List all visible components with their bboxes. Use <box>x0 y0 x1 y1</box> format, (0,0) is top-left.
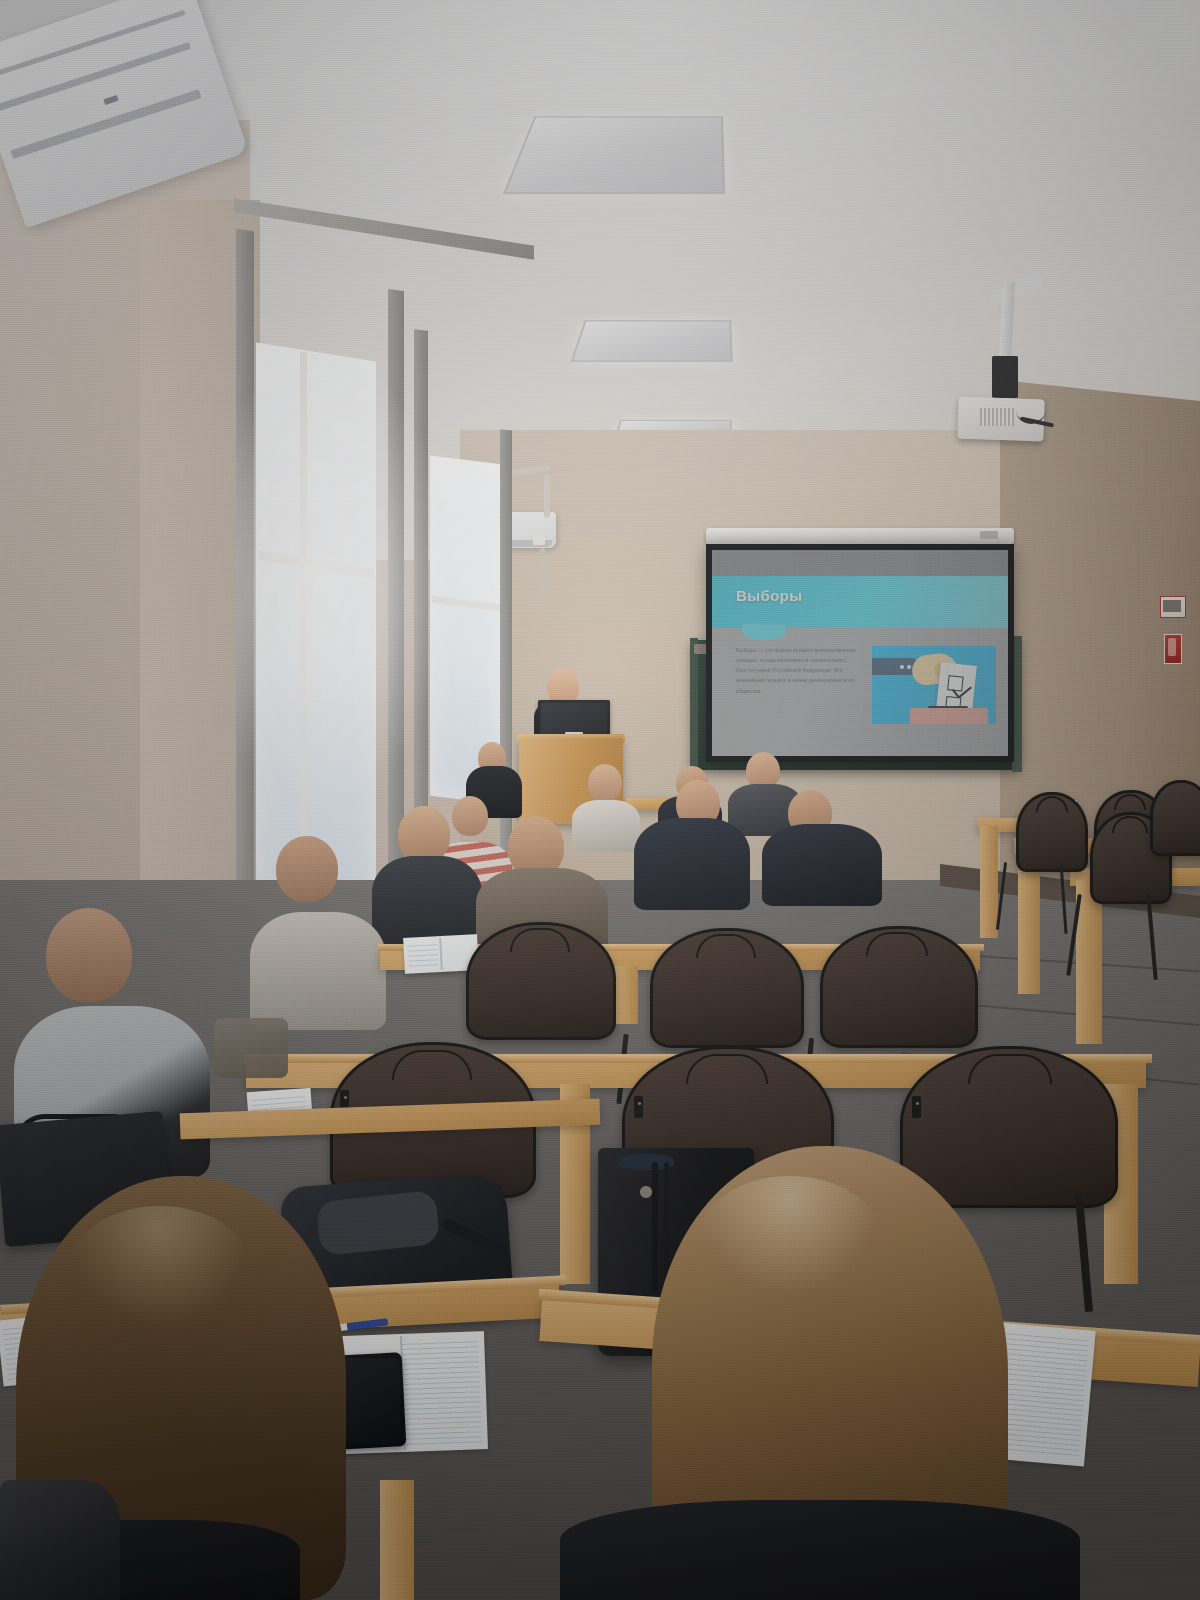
chair-mount-tab <box>634 1096 643 1118</box>
slide-band-accent <box>742 624 786 640</box>
hair-highlight <box>700 1176 880 1296</box>
chair-rivet <box>916 1102 919 1105</box>
chair-mount-tab <box>912 1096 921 1118</box>
wall-junction-box <box>533 535 545 545</box>
slide-title: Выборы <box>736 588 802 605</box>
projector-mount-block <box>992 356 1018 398</box>
fire-safety-sign-glyph <box>1163 600 1181 612</box>
torso-suit <box>762 824 882 906</box>
projection-screen-case <box>706 528 1014 544</box>
head <box>46 908 132 1002</box>
bag-on-desk <box>214 1018 288 1078</box>
head <box>452 796 488 836</box>
window-post <box>236 229 254 952</box>
head <box>588 764 622 802</box>
chair-rivet <box>638 1102 641 1105</box>
hair-highlight <box>70 1206 250 1326</box>
slide-illustration <box>872 646 996 724</box>
ceiling-light-panel <box>571 320 733 362</box>
chair-back-foreground <box>0 1480 120 1600</box>
torso <box>250 912 386 1030</box>
wall-conduit <box>540 548 545 600</box>
desk-leg <box>614 966 638 1024</box>
illustration-cuff-dot <box>907 665 911 669</box>
screen-case-label <box>980 531 998 539</box>
monitor-screen <box>541 703 607 734</box>
window-mullion <box>300 351 307 908</box>
presentation-slide: Выборы Выборы — это форма прямого волеиз… <box>712 550 1008 756</box>
handbag-clasp <box>640 1186 652 1198</box>
handbag-strap <box>652 1162 658 1292</box>
slide-body-text: Выборы — это форма прямого волеизъявлени… <box>736 646 856 697</box>
ceiling-light-panel <box>503 116 725 194</box>
handbag-strap <box>664 1162 669 1280</box>
projector-vent <box>980 408 1014 426</box>
classroom-photo: Выборы Выборы — это форма прямого волеиз… <box>0 0 1200 1600</box>
chalkboard-frame <box>690 638 698 772</box>
chair[interactable] <box>1150 780 1200 856</box>
window-glass-left <box>256 342 376 921</box>
desk-leg <box>380 1480 414 1600</box>
ballot-checkbox-checked <box>947 675 963 691</box>
torso <box>572 800 640 852</box>
slide-top-bar <box>712 550 1008 578</box>
fire-extinguisher-glyph <box>1168 638 1176 656</box>
head <box>276 836 338 902</box>
wall-conduit <box>544 474 550 518</box>
desk-leg <box>980 826 998 938</box>
illustration-ballot-box <box>910 708 988 724</box>
chair-rivet <box>344 1096 347 1099</box>
torso-suit <box>634 818 750 910</box>
torso <box>560 1500 1080 1600</box>
illustration-cuff-dot <box>900 665 904 669</box>
checkmark-icon <box>952 679 972 698</box>
